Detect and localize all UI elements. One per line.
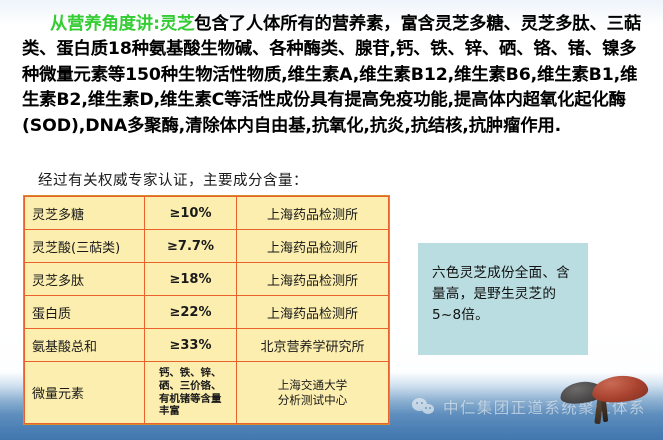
- wechat-dot: [416, 402, 418, 404]
- intro-green-term: 灵芝: [160, 14, 194, 34]
- row-component-org: 北京营养学研究所: [237, 329, 389, 362]
- wechat-dot: [425, 407, 427, 409]
- row-component-name: 灵芝酸(三萜类): [25, 230, 145, 263]
- table-row: 蛋白质 ≥22% 上海药品检测所: [25, 296, 389, 329]
- row-component-value: ≥22%: [145, 296, 237, 329]
- intro-paragraph: 从营养角度讲:灵芝包含了人体所有的营养素，富含灵芝多糖、灵芝多肽、三萜类、蛋白质…: [22, 12, 644, 139]
- row-component-name: 灵芝多肽: [25, 263, 145, 296]
- wechat-icon: [412, 397, 436, 417]
- row-component-org: 上海药品检测所: [237, 197, 389, 230]
- wechat-dot: [429, 407, 431, 409]
- row-component-name: 蛋白质: [25, 296, 145, 329]
- row-component-name: 微量元素: [25, 362, 145, 424]
- row-component-org: 上海药品检测所: [237, 296, 389, 329]
- composition-table: 灵芝多糖 ≥10% 上海药品检测所 灵芝酸(三萜类) ≥7.7% 上海药品检测所…: [24, 196, 389, 424]
- reishi-mushroom-image: [556, 372, 652, 434]
- wechat-dot: [421, 402, 423, 404]
- highlight-note-box: 六色灵芝成份全面、含量高，是野生灵芝的5~8倍。: [418, 243, 588, 355]
- table-row: 灵芝多肽 ≥18% 上海药品检测所: [25, 263, 389, 296]
- table-row: 灵芝酸(三萜类) ≥7.7% 上海药品检测所: [25, 230, 389, 263]
- wechat-bubble-small: [422, 404, 434, 414]
- row-component-value: 钙、铁、锌、硒、三价铬、有机锗等含量丰富: [145, 362, 237, 424]
- row-component-value: ≥7.7%: [145, 230, 237, 263]
- table-row: 氨基酸总和 ≥33% 北京营养学研究所: [25, 329, 389, 362]
- reishi-cap-red: [591, 374, 649, 405]
- row-component-value: ≥18%: [145, 263, 237, 296]
- slide-canvas: 从营养角度讲:灵芝包含了人体所有的营养素，富含灵芝多糖、灵芝多肽、三萜类、蛋白质…: [0, 0, 663, 440]
- highlight-note-text: 六色灵芝成份全面、含量高，是野生灵芝的5~8倍。: [432, 263, 574, 326]
- row-component-value: ≥10%: [145, 197, 237, 230]
- row-component-org: 上海药品检测所: [237, 263, 389, 296]
- row-component-org: 上海药品检测所: [237, 230, 389, 263]
- row-component-name: 氨基酸总和: [25, 329, 145, 362]
- table-caption: 经过有关权威专家认证，主要成分含量：: [38, 169, 308, 190]
- row-component-org: 上海交通大学分析测试中心: [237, 362, 389, 424]
- table-row: 灵芝多糖 ≥10% 上海药品检测所: [25, 197, 389, 230]
- row-component-value: ≥33%: [145, 329, 237, 362]
- table-row: 微量元素 钙、铁、锌、硒、三价铬、有机锗等含量丰富 上海交通大学分析测试中心: [25, 362, 389, 424]
- intro-green-lead: 从营养角度讲:: [50, 14, 160, 34]
- composition-table-body: 灵芝多糖 ≥10% 上海药品检测所 灵芝酸(三萜类) ≥7.7% 上海药品检测所…: [25, 197, 389, 424]
- row-component-name: 灵芝多糖: [25, 197, 145, 230]
